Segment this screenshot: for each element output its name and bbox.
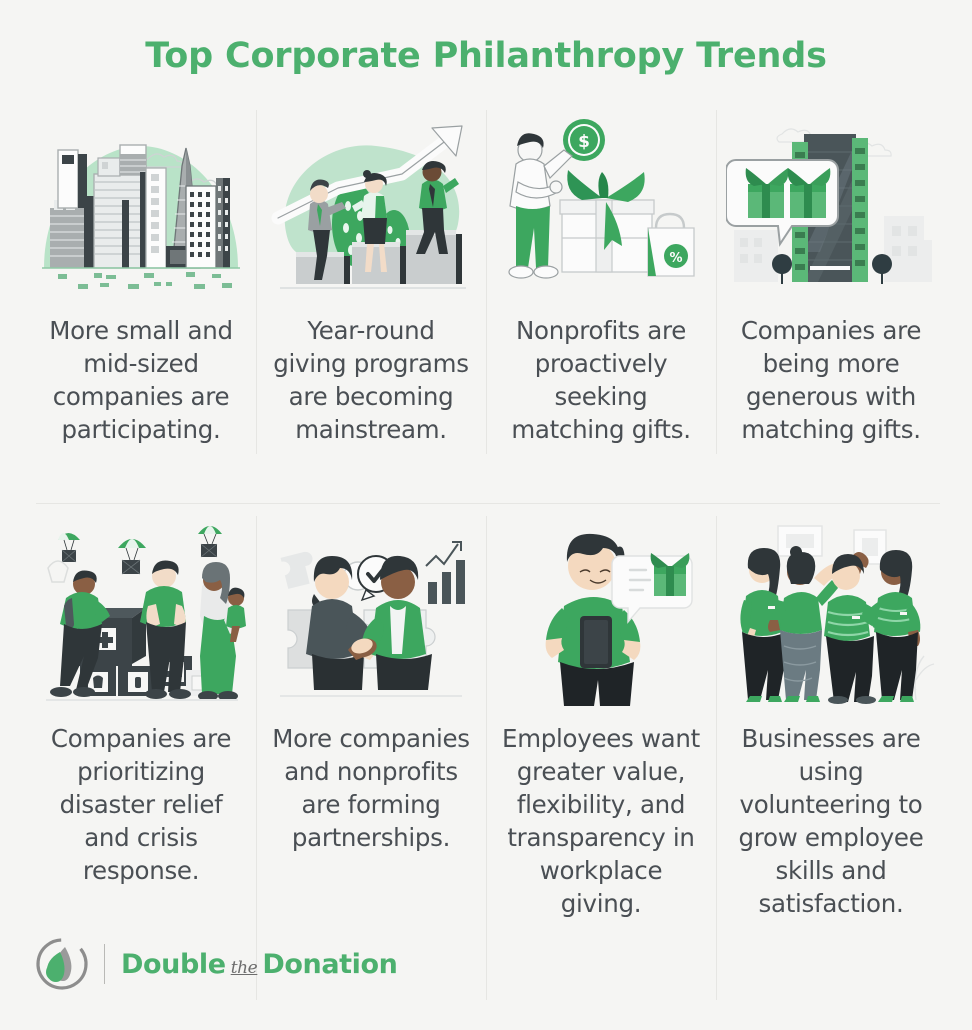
trends-grid-row-1: More small and mid-sized companies are p… (26, 104, 946, 464)
trend-card-employee-expectations: Employees want greater value, flexibilit… (486, 512, 716, 938)
disaster-relief-volunteers-illustration (36, 520, 246, 706)
logo-word-double: Double (121, 949, 226, 980)
illustration-handshake-puzzle-wrap (266, 520, 476, 706)
trend-caption: Companies are being more generous with m… (729, 314, 934, 446)
trend-caption: More companies and nonprofits are formin… (269, 722, 474, 854)
illustration-team-high-five-wrap (726, 520, 936, 706)
trends-grid-row-2: Companies are prioritizing disaster reli… (26, 512, 946, 938)
handshake-puzzle-illustration (266, 520, 476, 706)
trend-caption: Year-round giving programs are becoming … (269, 314, 474, 446)
illustration-person-coin-gift-wrap: $ (496, 112, 706, 298)
trend-caption: Employees want greater value, flexibilit… (499, 722, 704, 920)
illustration-building-gifts-wrap (726, 112, 936, 298)
growth-chart-people-illustration (266, 112, 476, 298)
person-phone-gift-illustration (496, 520, 706, 706)
double-the-donation-logo[interactable]: Double the Donation (34, 936, 397, 992)
row-divider (36, 503, 940, 504)
trend-caption: More small and mid-sized companies are p… (39, 314, 244, 446)
logo-word-the: the (231, 958, 258, 978)
logo-word-donation: Donation (262, 949, 397, 980)
trend-card-partnerships: More companies and nonprofits are formin… (256, 512, 486, 938)
trend-caption: Businesses are using volunteering to gro… (729, 722, 934, 920)
svg-text:$: $ (578, 132, 590, 152)
office-building-gifts-illustration (726, 112, 936, 298)
trend-caption: Companies are prioritizing disaster reli… (39, 722, 244, 887)
double-the-donation-logo-mark (34, 936, 90, 992)
city-skyline-illustration (36, 112, 246, 298)
svg-text:%: % (669, 251, 682, 266)
trend-card-small-mid-companies: More small and mid-sized companies are p… (26, 104, 256, 464)
logo-divider (104, 944, 105, 984)
trend-card-nonprofits-matching-gifts: $ (486, 104, 716, 464)
illustration-growth-chart-wrap (266, 112, 476, 298)
trend-card-companies-generous: Companies are being more generous with m… (716, 104, 946, 464)
illustration-disaster-relief-wrap (36, 520, 246, 706)
illustration-person-phone-wrap (496, 520, 706, 706)
logo-wordmark: Double the Donation (121, 949, 397, 980)
trend-card-year-round-giving: Year-round giving programs are becoming … (256, 104, 486, 464)
trend-caption: Nonprofits are proactively seeking match… (499, 314, 704, 446)
trend-card-disaster-relief: Companies are prioritizing disaster reli… (26, 512, 256, 938)
trend-card-volunteering-skills: Businesses are using volunteering to gro… (716, 512, 946, 938)
person-coin-gift-illustration: $ (496, 112, 706, 298)
page-title: Top Corporate Philanthropy Trends (0, 36, 972, 76)
illustration-city-skyline-wrap (36, 112, 246, 298)
team-high-five-illustration (726, 520, 936, 706)
infographic-page: Top Corporate Philanthropy Trends (0, 0, 972, 1030)
